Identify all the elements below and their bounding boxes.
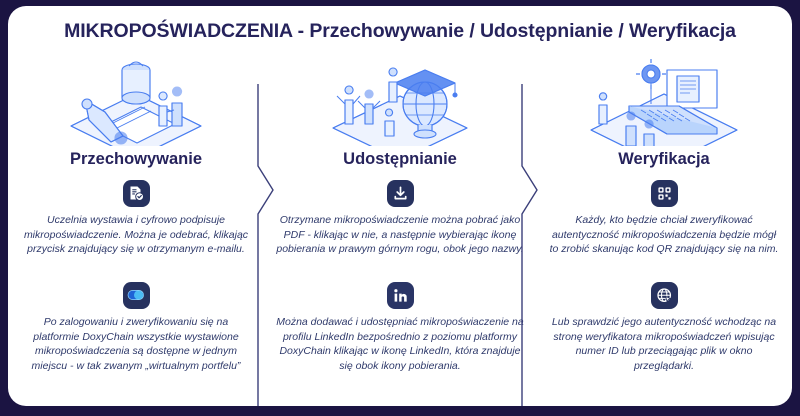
laptop-verified-document-isometric-illustration <box>538 54 790 146</box>
columns-container: Przechowywanie Uczelnia wystawia i cyfro… <box>8 52 792 406</box>
info-block-text: Lub sprawdzić jego autentyczność wchodzą… <box>538 315 790 373</box>
column-heading-przechowywanie: Przechowywanie <box>10 150 262 169</box>
column-weryfikacja: Weryfikacja <box>538 52 790 406</box>
document-seal-icon <box>123 180 150 207</box>
diploma-signing-isometric-illustration <box>10 54 262 146</box>
info-block: Otrzymane mikropoświadczenie można pobra… <box>274 180 526 257</box>
qr-code-icon <box>651 180 678 207</box>
info-block: Każdy, kto będzie chciał zweryfikować au… <box>538 180 790 257</box>
doxychain-hexagon-icon <box>123 282 150 309</box>
info-block: Po zalogowaniu i zweryfikowaniu się na p… <box>10 282 262 373</box>
globe-graduation-cap-isometric-illustration <box>274 54 526 146</box>
globe-cursor-icon <box>651 282 678 309</box>
page-title: MIKROPOŚWIADCZENIA - Przechowywanie / Ud… <box>8 20 792 43</box>
download-icon <box>387 180 414 207</box>
info-block-text: Każdy, kto będzie chciał zweryfikować au… <box>538 213 790 257</box>
info-block: Uczelnia wystawia i cyfrowo podpisuje mi… <box>10 180 262 257</box>
column-heading-weryfikacja: Weryfikacja <box>538 150 790 169</box>
linkedin-icon <box>387 282 414 309</box>
info-block: Lub sprawdzić jego autentyczność wchodzą… <box>538 282 790 373</box>
info-block-text: Uczelnia wystawia i cyfrowo podpisuje mi… <box>10 213 262 257</box>
infographic-card: MIKROPOŚWIADCZENIA - Przechowywanie / Ud… <box>8 6 792 406</box>
info-block-text: Otrzymane mikropoświadczenie można pobra… <box>274 213 526 257</box>
info-block-text: Po zalogowaniu i zweryfikowaniu się na p… <box>10 315 262 373</box>
info-block: Można dodawać i udostępniać mikropoświac… <box>274 282 526 373</box>
column-udostepnianie: Udostępnianie Otrzymane mikropoświadczen… <box>274 52 526 406</box>
info-block-text: Można dodawać i udostępniać mikropoświac… <box>274 315 526 373</box>
column-heading-udostepnianie: Udostępnianie <box>274 150 526 169</box>
infographic-frame: MIKROPOŚWIADCZENIA - Przechowywanie / Ud… <box>0 0 800 416</box>
column-przechowywanie: Przechowywanie Uczelnia wystawia i cyfro… <box>10 52 262 406</box>
